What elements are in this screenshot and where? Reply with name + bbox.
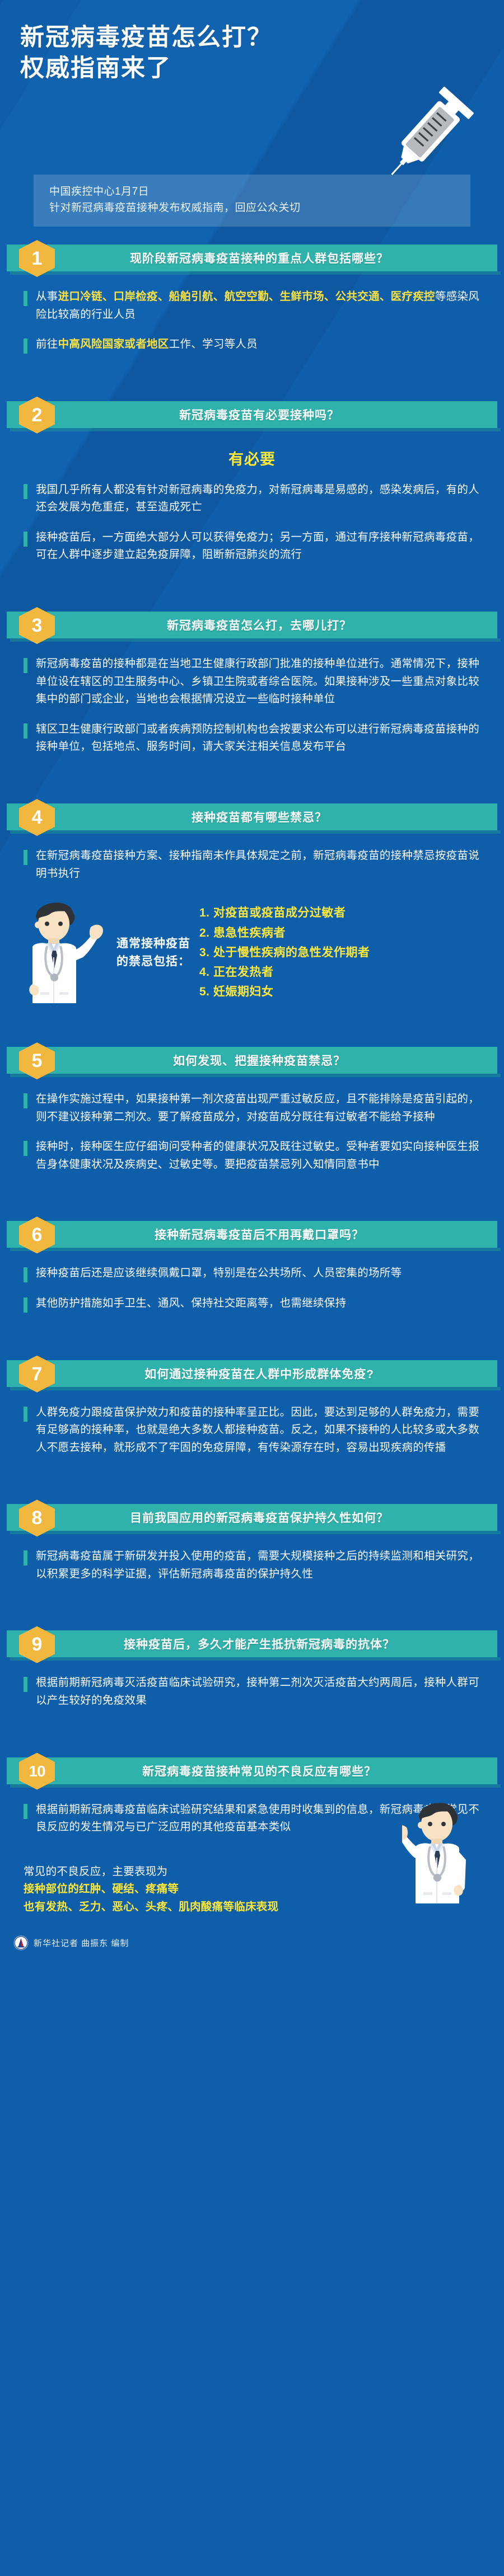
bullet-text: 在操作实施过程中，如果接种第一剂次疫苗出现严重过敏反应，且不能排除是疫苗引起的，… <box>36 1090 484 1126</box>
list-item: 4. 正在发热者 <box>199 962 370 982</box>
question-header-1: 1 现阶段新冠病毒疫苗接种的重点人群包括哪些？ <box>7 241 497 276</box>
bullet-item: 接种疫苗后，一方面绝大部分人可以获得免疫力；另一方面，通过有序接种新冠病毒疫苗，… <box>24 529 484 564</box>
bullet-text: 接种疫苗后，一方面绝大部分人可以获得免疫力；另一方面，通过有序接种新冠病毒疫苗，… <box>36 529 484 564</box>
question-text: 目前我国应用的新冠病毒疫苗保护持久性如何？ <box>7 1504 497 1531</box>
header-bar-shadow <box>10 1248 501 1251</box>
doctor-illustration <box>19 892 113 1013</box>
header-bar-shadow <box>10 271 501 275</box>
question-text: 新冠病毒疫苗接种常见的不良反应有哪些？ <box>7 1757 497 1784</box>
section-4: 4 接种疫苗都有哪些禁忌？ 在新冠病毒疫苗接种方案、接种指南未作具体规定之前，新… <box>0 800 504 1043</box>
xinhua-logo-icon <box>13 1935 29 1950</box>
header-bar-shadow <box>10 428 501 431</box>
list-item: 5. 妊娠期妇女 <box>199 982 370 1002</box>
bullet-item: 新冠病毒疫苗属于新研发并投入使用的疫苗，需要大规模接种之后的持续监测和相关研究，… <box>24 1548 484 1583</box>
doctor-illustration <box>402 1793 496 1913</box>
bullet-text: 辖区卫生健康行政部门或者疾病预防控制机构也会按要求公布可以进行新冠病毒疫苗接种的… <box>36 721 484 756</box>
bullet-item: 我国几乎所有人都没有针对新冠病毒的免疫力，对新冠病毒是易感的，感染发病后，有的人… <box>24 481 484 516</box>
bullet-post: 工作、学习等人员 <box>169 338 258 350</box>
subtitle-line-1: 中国疾控中心1月7日 <box>49 184 457 200</box>
question-header-4: 4 接种疫苗都有哪些禁忌？ <box>7 800 497 835</box>
taboo-list: 1. 对疫苗或疫苗成分过敏者 2. 患急性疾病者 3. 处于慢性疾病的急性发作期… <box>199 903 370 1002</box>
bullet-text: 新冠病毒疫苗属于新研发并投入使用的疫苗，需要大规模接种之后的持续监测和相关研究，… <box>36 1548 484 1583</box>
section-9: 9 接种疫苗后，多久才能产生抵抗新冠病毒的抗体？ 根据前期新冠病毒灭活疫苗临床试… <box>0 1627 504 1753</box>
bullet-item: 从事进口冷链、口岸检疫、船舶引航、航空空勤、生鲜市场、公共交通、医疗疾控等感染风… <box>24 288 484 323</box>
taboo-label: 通常接种疫苗 的禁忌包括： <box>116 935 190 970</box>
bullet-text: 其他防护措施如手卫生、通风、保持社交距离等，也需继续保持 <box>36 1295 484 1313</box>
question-text: 新冠病毒疫苗有必要接种吗？ <box>7 401 497 428</box>
section-8: 8 目前我国应用的新冠病毒疫苗保护持久性如何？ 新冠病毒疫苗属于新研发并投入使用… <box>0 1500 504 1627</box>
credit-text: 新华社记者 曲振东 编制 <box>34 1937 129 1949</box>
bullet-text: 根据前期新冠病毒灭活疫苗临床试验研究，接种第二剂次灭活疫苗大约两周后，接种人群可… <box>36 1674 484 1709</box>
question-text: 接种新冠病毒疫苗后不用再戴口罩吗？ <box>7 1221 497 1248</box>
bullet-item: 在新冠病毒疫苗接种方案、接种指南未作具体规定之前，新冠病毒疫苗的接种禁忌按疫苗说… <box>24 847 484 882</box>
header-bar-shadow <box>10 1387 501 1390</box>
bullet-highlight: 进口冷链、口岸检疫、船舶引航、航空空勤、生鲜市场、公共交通、医疗疾控 <box>58 290 435 303</box>
bullet-text: 接种时，接种医生应仔细询问受种者的健康状况及既往过敏史。受种者要如实向接种医生报… <box>36 1138 484 1173</box>
section-10: 10 新冠病毒疫苗接种常见的不良反应有哪些？ 根据前期新冠病毒疫苗临床试验研究结… <box>0 1754 504 1921</box>
question-header-3: 3 新冠病毒疫苗怎么打，去哪儿打？ <box>7 608 497 643</box>
bullet-item: 根据前期新冠病毒灭活疫苗临床试验研究，接种第二剂次灭活疫苗大约两周后，接种人群可… <box>24 1674 484 1709</box>
list-item: 2. 患急性疾病者 <box>199 923 370 943</box>
question-header-9: 9 接种疫苗后，多久才能产生抵抗新冠病毒的抗体？ <box>7 1627 497 1662</box>
bullet-pre: 前往 <box>36 338 58 350</box>
header-bar-shadow <box>10 1784 501 1788</box>
subtitle-box: 中国疾控中心1月7日 针对新冠病毒疫苗接种发布权威指南，回应公众关切 <box>34 175 470 227</box>
bullet-text: 人群免疫力跟疫苗保护效力和疫苗的接种率呈正比。因此，要达到足够的人群免疫力，需要… <box>36 1404 484 1457</box>
question-text: 现阶段新冠病毒疫苗接种的重点人群包括哪些？ <box>7 245 497 271</box>
callout-text: 有必要 <box>0 447 504 469</box>
question-text: 接种疫苗都有哪些禁忌？ <box>7 803 497 830</box>
header-bar-shadow <box>10 1074 501 1077</box>
question-header-10: 10 新冠病毒疫苗接种常见的不良反应有哪些？ <box>7 1754 497 1789</box>
bullet-pre: 从事 <box>36 290 58 303</box>
bullet-item: 其他防护措施如手卫生、通风、保持社交距离等，也需继续保持 <box>24 1295 484 1313</box>
question-text: 新冠病毒疫苗怎么打，去哪儿打？ <box>7 612 497 638</box>
subtitle-line-2: 针对新冠病毒疫苗接种发布权威指南，回应公众关切 <box>49 200 457 216</box>
taboo-row: 通常接种疫苗 的禁忌包括： 1. 对疫苗或疫苗成分过敏者 2. 患急性疾病者 3… <box>19 892 504 1013</box>
section-5: 5 如何发现、把握接种疫苗禁忌？ 在操作实施过程中，如果接种第一剂次疫苗出现严重… <box>0 1043 504 1217</box>
bullet-text: 在新冠病毒疫苗接种方案、接种指南未作具体规定之前，新冠病毒疫苗的接种禁忌按疫苗说… <box>36 847 484 882</box>
page-title: 新冠病毒疫苗怎么打？ 权威指南来了 <box>0 22 504 84</box>
question-text: 如何通过接种疫苗在人群中形成群体免疫? <box>7 1360 497 1387</box>
bullet-text: 接种疫苗后还是应该继续佩戴口罩，特别是在公共场所、人员密集的场所等 <box>36 1265 484 1282</box>
bullet-highlight: 中高风险国家或者地区 <box>58 338 169 350</box>
section-6: 6 接种新冠病毒疫苗后不用再戴口罩吗？ 接种疫苗后还是应该继续佩戴口罩，特别是在… <box>0 1217 504 1356</box>
question-header-7: 7 如何通过接种疫苗在人群中形成群体免疫? <box>7 1356 497 1392</box>
taboo-label-line-1: 通常接种疫苗 <box>116 935 190 953</box>
question-header-5: 5 如何发现、把握接种疫苗禁忌？ <box>7 1043 497 1078</box>
bullet-text: 我国几乎所有人都没有针对新冠病毒的免疫力，对新冠病毒是易感的，感染发病后，有的人… <box>36 481 484 516</box>
taboo-label-line-2: 的禁忌包括： <box>116 953 190 971</box>
question-text: 接种疫苗后，多久才能产生抵抗新冠病毒的抗体？ <box>7 1630 497 1657</box>
section-3: 3 新冠病毒疫苗怎么打，去哪儿打？ 新冠病毒疫苗的接种都是在当地卫生健康行政部门… <box>0 608 504 800</box>
bullet-item: 前往中高风险国家或者地区工作、学习等人员 <box>24 336 484 354</box>
question-header-2: 2 新冠病毒疫苗有必要接种吗？ <box>7 397 497 433</box>
section-1: 1 现阶段新冠病毒疫苗接种的重点人群包括哪些？ 从事进口冷链、口岸检疫、船舶引航… <box>0 241 504 397</box>
bullet-item: 人群免疫力跟疫苗保护效力和疫苗的接种率呈正比。因此，要达到足够的人群免疫力，需要… <box>24 1404 484 1457</box>
question-header-8: 8 目前我国应用的新冠病毒疫苗保护持久性如何？ <box>7 1500 497 1535</box>
header-bar-shadow <box>10 1657 501 1661</box>
question-header-6: 6 接种新冠病毒疫苗后不用再戴口罩吗？ <box>7 1217 497 1252</box>
question-text: 如何发现、把握接种疫苗禁忌？ <box>7 1047 497 1074</box>
header-bar-shadow <box>10 1531 501 1534</box>
bullet-item: 接种时，接种医生应仔细询问受种者的健康状况及既往过敏史。受种者要如实向接种医生报… <box>24 1138 484 1173</box>
title-line-1: 新冠病毒疫苗怎么打？ <box>20 24 272 51</box>
section-7: 7 如何通过接种疫苗在人群中形成群体免疫? 人群免疫力跟疫苗保护效力和疫苗的接种… <box>0 1356 504 1501</box>
bullet-item: 接种疫苗后还是应该继续佩戴口罩，特别是在公共场所、人员密集的场所等 <box>24 1265 484 1282</box>
bullet-item: 在操作实施过程中，如果接种第一剂次疫苗出现严重过敏反应，且不能排除是疫苗引起的，… <box>24 1090 484 1126</box>
section-2: 2 新冠病毒疫苗有必要接种吗？ 有必要 我国几乎所有人都没有针对新冠病毒的免疫力… <box>0 397 504 608</box>
bullet-item: 辖区卫生健康行政部门或者疾病预防控制机构也会按要求公布可以进行新冠病毒疫苗接种的… <box>24 721 484 756</box>
list-item: 3. 处于慢性疾病的急性发作期者 <box>199 943 370 962</box>
header-bar-shadow <box>10 638 501 642</box>
bullet-text: 新冠病毒疫苗的接种都是在当地卫生健康行政部门批准的接种单位进行。通常情况下，接种… <box>36 655 484 708</box>
list-item: 1. 对疫苗或疫苗成分过敏者 <box>199 903 370 923</box>
hero-banner: 新冠病毒疫苗怎么打？ 权威指南来了 <box>0 0 504 241</box>
footer-credit: 新华社记者 曲振东 编制 <box>13 1935 504 1950</box>
syringe-icon <box>374 78 480 190</box>
header-bar-shadow <box>10 830 501 834</box>
bullet-item: 新冠病毒疫苗的接种都是在当地卫生健康行政部门批准的接种单位进行。通常情况下，接种… <box>24 655 484 708</box>
